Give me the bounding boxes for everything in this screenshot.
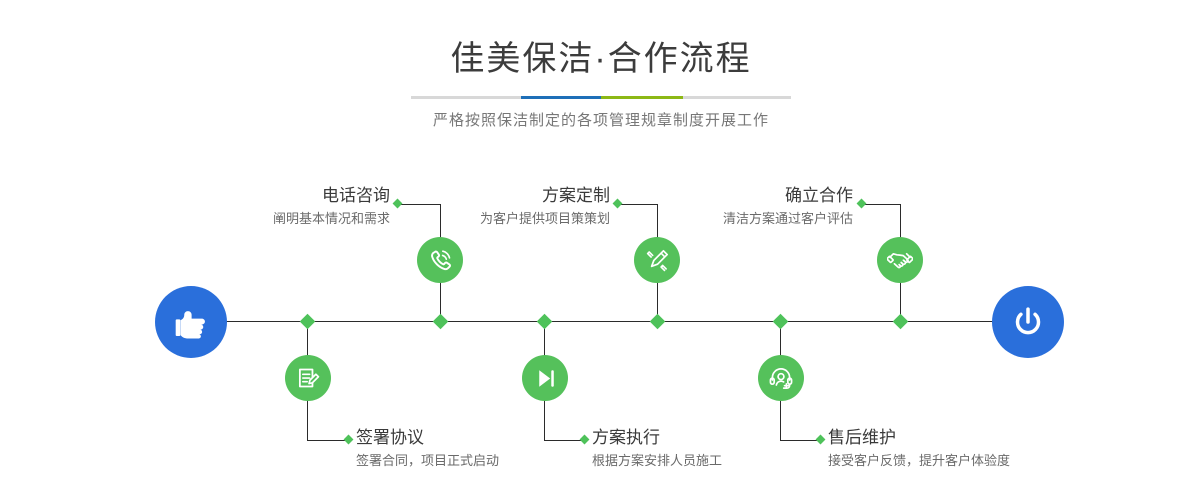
step-icon-node-3 [634, 237, 680, 283]
label-dot-5 [857, 199, 867, 209]
phone-call-icon [427, 247, 453, 273]
step-title-5: 确立合作 [648, 185, 853, 207]
page-title: 佳美保洁·合作流程 [0, 0, 1202, 82]
headset-support-icon [768, 365, 794, 391]
step-desc-6: 接受客户反馈，提升客户体验度 [828, 451, 1088, 471]
step-label-3: 方案定制 为客户提供项目策策划 [405, 185, 610, 229]
step-label-1: 电话咨询 阐明基本情况和需求 [185, 185, 390, 229]
timeline-marker-5 [893, 314, 909, 330]
document-pen-icon [295, 365, 321, 391]
step-icon-node-5 [877, 237, 923, 283]
timeline-marker-2 [300, 314, 316, 330]
step-label-4: 方案执行 根据方案安排人员施工 [592, 427, 822, 471]
handshake-icon [887, 247, 913, 273]
step-title-2: 签署协议 [356, 427, 586, 449]
divider-segment-green [601, 96, 683, 99]
connector-horizontal-2 [307, 440, 349, 441]
step-icon-node-6 [758, 355, 804, 401]
label-dot-3 [613, 199, 623, 209]
label-dot-2 [344, 435, 354, 445]
step-desc-4: 根据方案安排人员施工 [592, 451, 822, 471]
label-dot-1 [393, 199, 403, 209]
header: 佳美保洁·合作流程 严格按照保洁制定的各项管理规章制度开展工作 [0, 0, 1202, 130]
power-icon [1008, 302, 1048, 342]
pointing-hand-icon [170, 301, 212, 343]
step-title-1: 电话咨询 [185, 185, 390, 207]
timeline-end-node [992, 286, 1064, 358]
timeline-marker-6 [773, 314, 789, 330]
timeline-marker-3 [650, 314, 666, 330]
step-title-4: 方案执行 [592, 427, 822, 449]
step-title-3: 方案定制 [405, 185, 610, 207]
step-label-6: 售后维护 接受客户反馈，提升客户体验度 [828, 427, 1088, 471]
step-icon-node-4 [522, 355, 568, 401]
timeline-marker-4 [537, 314, 553, 330]
timeline-start-node [155, 286, 227, 358]
step-icon-node-2 [285, 355, 331, 401]
title-divider [411, 96, 791, 99]
divider-segment-blue [521, 96, 601, 99]
timeline-axis [212, 321, 1002, 322]
timeline-marker-1 [433, 314, 449, 330]
step-label-5: 确立合作 清洁方案通过客户评估 [648, 185, 853, 229]
step-desc-3: 为客户提供项目策策划 [405, 209, 610, 229]
step-icon-node-1 [417, 237, 463, 283]
flow-diagram-canvas: 佳美保洁·合作流程 严格按照保洁制定的各项管理规章制度开展工作 [0, 0, 1202, 502]
page-subtitle: 严格按照保洁制定的各项管理规章制度开展工作 [0, 109, 1202, 130]
play-execute-icon [533, 366, 558, 391]
step-desc-5: 清洁方案通过客户评估 [648, 209, 853, 229]
connector-horizontal-5 [862, 204, 901, 205]
pencil-ruler-icon [645, 248, 670, 273]
step-desc-2: 签署合同，项目正式启动 [356, 451, 586, 471]
step-desc-1: 阐明基本情况和需求 [185, 209, 390, 229]
step-title-6: 售后维护 [828, 427, 1088, 449]
step-label-2: 签署协议 签署合同，项目正式启动 [356, 427, 586, 471]
